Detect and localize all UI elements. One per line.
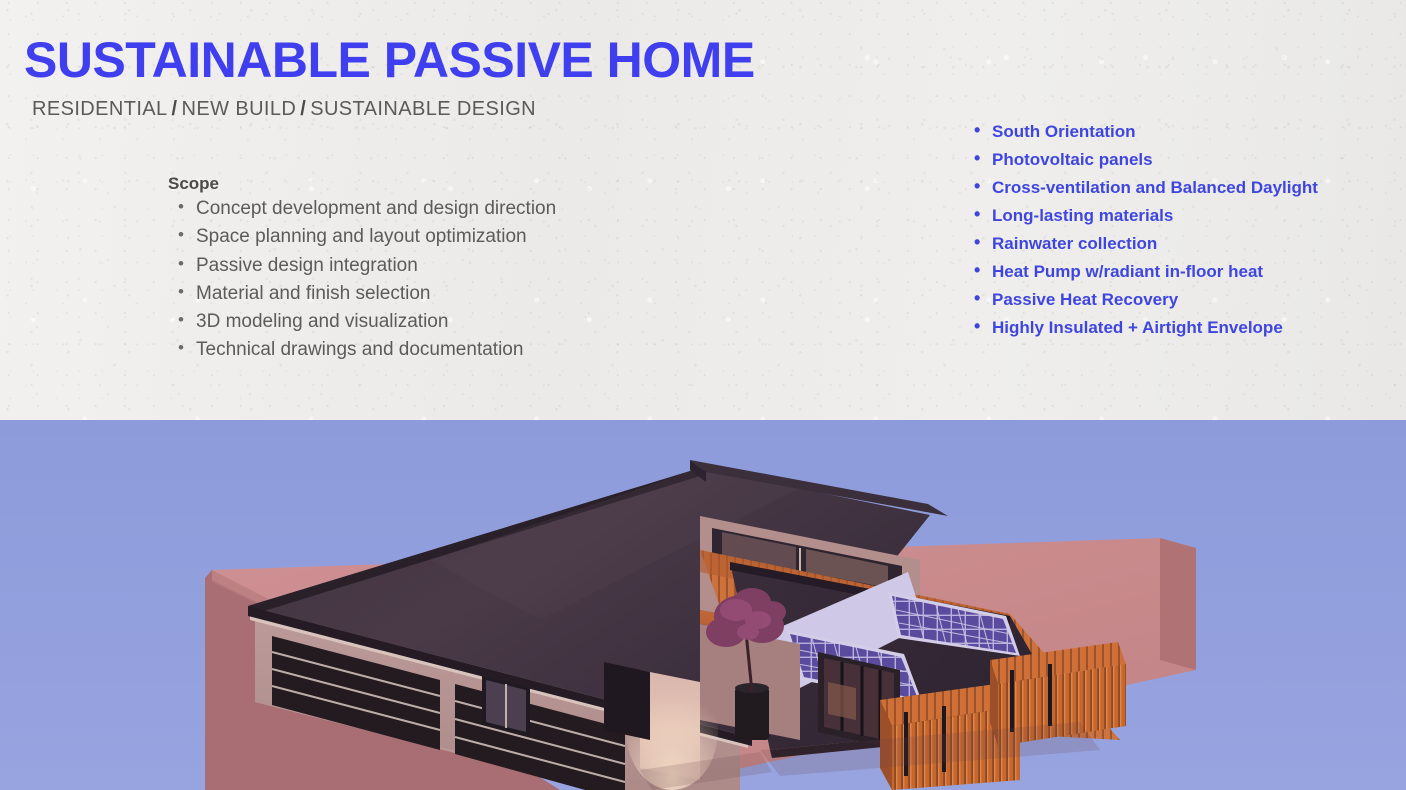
feature-list-item: Highly Insulated + Airtight Envelope	[968, 318, 1368, 338]
text-panel: SUSTAINABLE PASSIVE HOME RESIDENTIAL/NEW…	[0, 0, 1406, 420]
scope-list: Concept development and design direction…	[168, 198, 688, 361]
category-breadcrumb: RESIDENTIAL/NEW BUILD/SUSTAINABLE DESIGN	[32, 98, 536, 121]
feature-list-item: South Orientation	[968, 122, 1368, 142]
scope-list-item: Technical drawings and documentation	[168, 339, 688, 360]
breadcrumb-separator-2: /	[296, 98, 310, 120]
scope-list-item: 3D modeling and visualization	[168, 311, 688, 332]
scope-list-item: Material and finish selection	[168, 283, 688, 304]
breadcrumb-item-sustainable-design: SUSTAINABLE DESIGN	[310, 98, 536, 120]
slide-root: SUSTAINABLE PASSIVE HOME RESIDENTIAL/NEW…	[0, 0, 1406, 790]
scope-list-item: Passive design integration	[168, 255, 688, 276]
house-render-image	[0, 420, 1406, 790]
page-title: SUSTAINABLE PASSIVE HOME	[24, 35, 755, 85]
breadcrumb-separator-1: /	[168, 98, 182, 120]
architectural-render-panel	[0, 420, 1406, 790]
entry-door	[604, 662, 650, 740]
feature-list-item: Passive Heat Recovery	[968, 290, 1368, 310]
feature-list-item: Long-lasting materials	[968, 206, 1368, 226]
feature-list-item: Rainwater collection	[968, 234, 1368, 254]
breadcrumb-item-new-build: NEW BUILD	[182, 98, 297, 120]
feature-list-item: Cross-ventilation and Balanced Daylight	[968, 178, 1368, 198]
feature-list-item: Photovoltaic panels	[968, 150, 1368, 170]
feature-list-item: Heat Pump w/radiant in-floor heat	[968, 262, 1368, 282]
features-section: South Orientation Photovoltaic panels Cr…	[968, 122, 1368, 346]
scope-list-item: Space planning and layout optimization	[168, 226, 688, 247]
scope-section: Scope Concept development and design dir…	[168, 174, 688, 368]
breadcrumb-item-residential: RESIDENTIAL	[32, 98, 168, 120]
scope-heading: Scope	[168, 174, 688, 194]
features-list: South Orientation Photovoltaic panels Cr…	[968, 122, 1368, 338]
scope-list-item: Concept development and design direction	[168, 198, 688, 219]
